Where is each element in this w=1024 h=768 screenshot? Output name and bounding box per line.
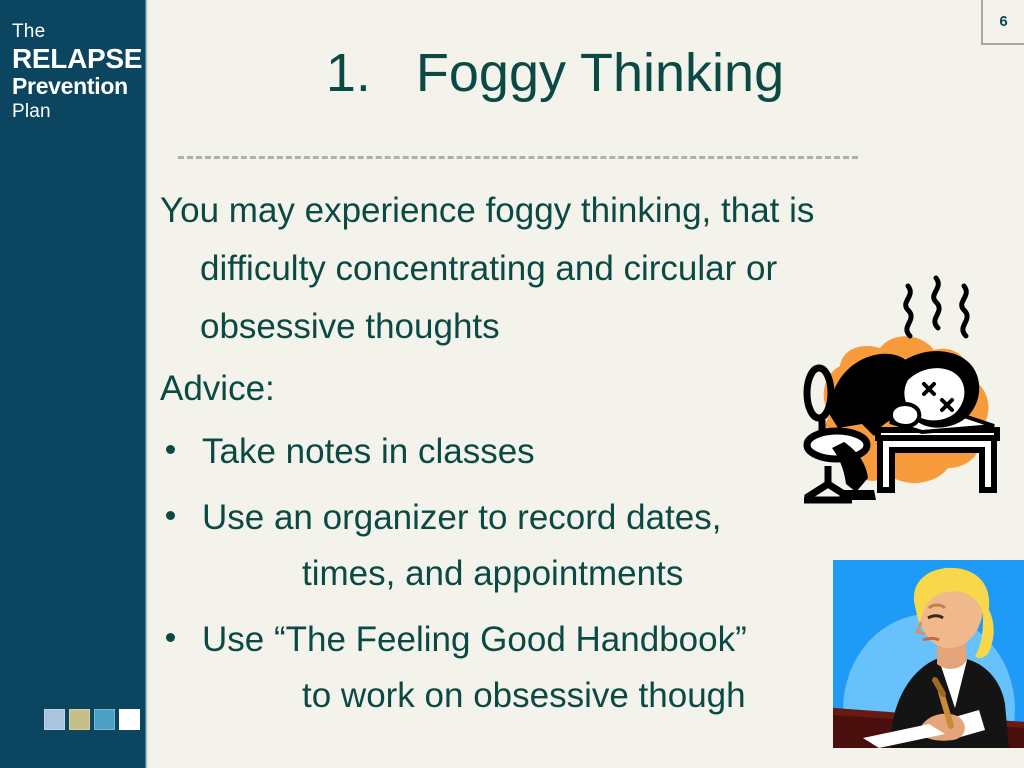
bullet-dot-icon xyxy=(166,511,175,520)
logo-line-relapse: RELAPSE xyxy=(12,45,140,73)
logo-line-the: The xyxy=(12,22,140,41)
page-title: 1. Foggy Thinking xyxy=(160,42,950,104)
swatch-khaki xyxy=(69,709,90,730)
bullet-2-line-1: Use an organizer to record dates, xyxy=(202,498,721,537)
page-number-badge: 6 xyxy=(981,0,1024,45)
bullet-2-line-2: times, and appointments xyxy=(202,546,940,602)
bullet-3-line-2: to work on obsessive though xyxy=(202,668,940,724)
intro-line-1: You may experience foggy thinking, that … xyxy=(160,191,814,230)
person-writing-illustration xyxy=(833,560,1024,748)
bullet-dot-icon xyxy=(166,445,175,454)
logo-line-prevention: Prevention xyxy=(12,75,140,98)
bullet-3-line-1: Use “The Feeling Good Handbook” xyxy=(202,620,747,659)
slide: The RELAPSE Prevention Plan 6 1. Foggy T… xyxy=(0,0,1024,768)
title-divider xyxy=(178,156,858,159)
brand-logo: The RELAPSE Prevention Plan xyxy=(12,22,140,121)
swatch-light-blue xyxy=(44,709,65,730)
page-number-value: 6 xyxy=(999,13,1007,30)
tired-student-illustration xyxy=(782,262,1024,510)
sidebar-edge xyxy=(145,0,148,768)
bullet-dot-icon xyxy=(166,633,175,642)
list-item: Use “The Feeling Good Handbook” to work … xyxy=(160,612,940,724)
bullet-1-line-1: Take notes in classes xyxy=(202,432,535,471)
swatch-white xyxy=(119,709,140,730)
swatch-strip xyxy=(44,709,140,730)
logo-line-plan: Plan xyxy=(12,102,140,121)
swatch-blue xyxy=(94,709,115,730)
